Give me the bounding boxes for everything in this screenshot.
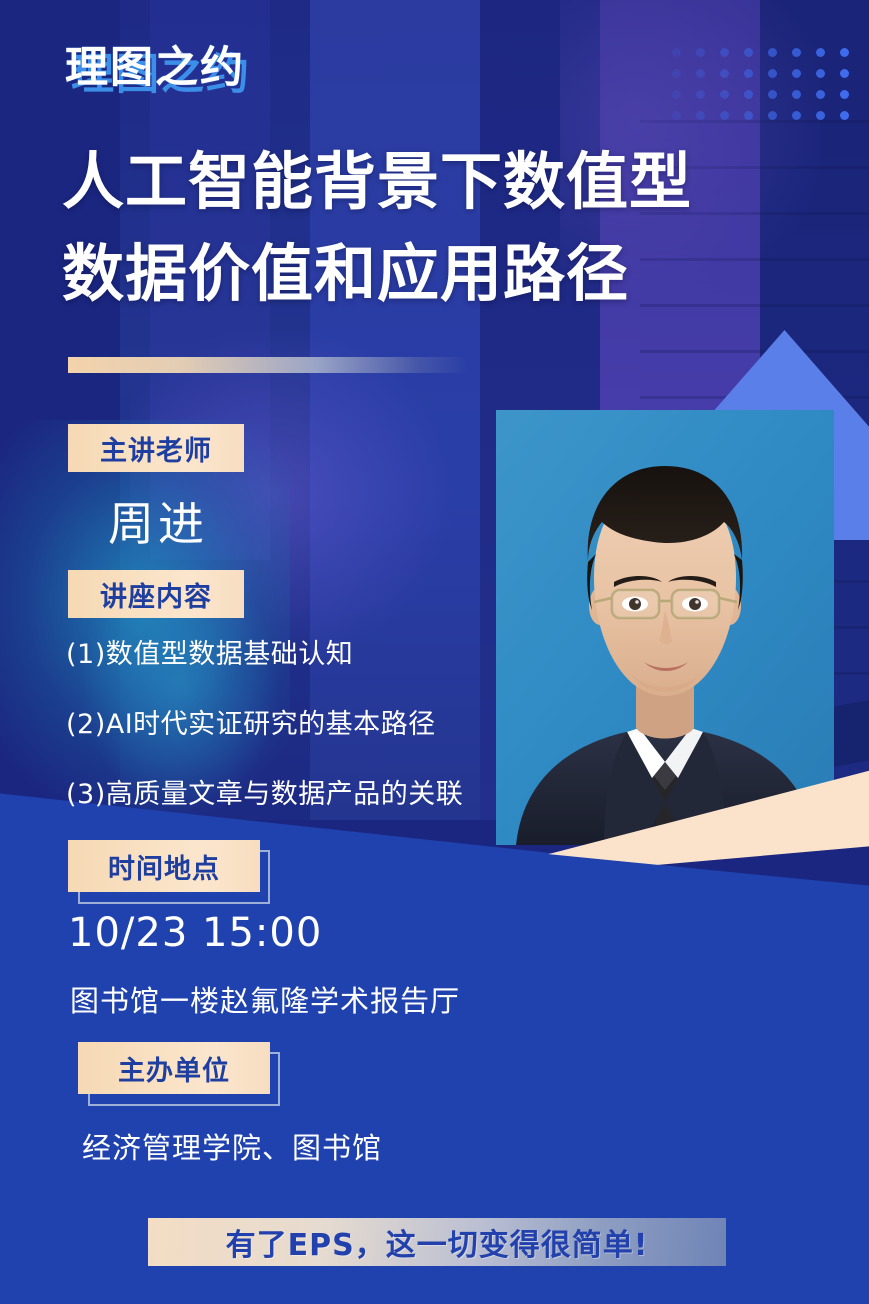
seminar-poster: 理图之约 人工智能背景下数值型 数据价值和应用路径 主讲老师 周进 讲座内容 (…	[0, 0, 869, 1304]
title-line-2: 数据价值和应用路径	[62, 228, 822, 320]
title-line-1: 人工智能背景下数值型	[62, 136, 822, 228]
dot-grid-icon	[672, 48, 862, 128]
organizer-name: 经济管理学院、图书馆	[82, 1125, 382, 1167]
list-item: (1)数值型数据基础认知	[66, 632, 536, 671]
schedule-datetime: 10/23 15:00	[68, 910, 322, 956]
schedule-venue: 图书馆一楼赵氟隆学术报告厅	[70, 978, 460, 1020]
organizer-badge: 主办单位	[78, 1042, 270, 1094]
brand-logo: 理图之约	[65, 33, 245, 95]
schedule-badge: 时间地点	[68, 840, 260, 892]
gradient-rule-icon	[68, 357, 468, 373]
avatar	[496, 410, 834, 845]
footer-slogan: 有了EPS，这一切变得很简单!	[148, 1218, 726, 1266]
list-item: (3)高质量文章与数据产品的关联	[66, 772, 536, 811]
list-item: (2)AI时代实证研究的基本路径	[66, 702, 536, 741]
footer-slogan-text: 有了EPS，这一切变得很简单!	[226, 1220, 649, 1264]
agenda-badge: 讲座内容	[68, 570, 244, 618]
speaker-name: 周进	[108, 488, 208, 554]
speaker-photo	[496, 410, 834, 845]
agenda-list: (1)数值型数据基础认知 (2)AI时代实证研究的基本路径 (3)高质量文章与数…	[66, 632, 536, 842]
page-title: 人工智能背景下数值型 数据价值和应用路径	[62, 136, 822, 320]
speaker-badge: 主讲老师	[68, 424, 244, 472]
